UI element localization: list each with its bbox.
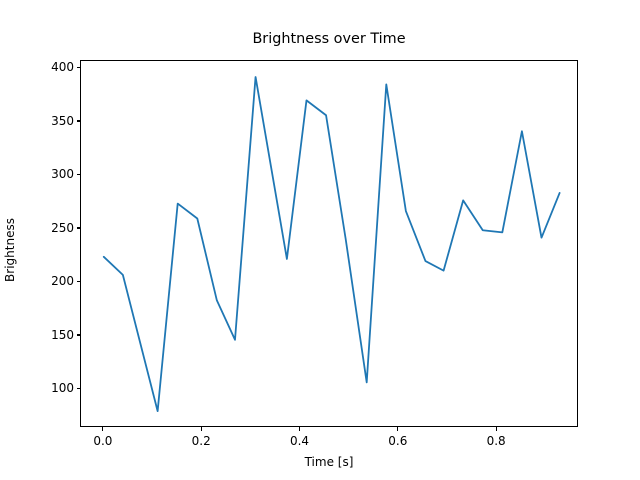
- x-axis-tick-labels: 0.00.20.40.60.8: [0, 434, 640, 450]
- x-tick-label: 0.2: [192, 434, 211, 448]
- y-tick-label: 100: [51, 381, 74, 395]
- x-tick-label: 0.6: [388, 434, 407, 448]
- data-series-brightness: [81, 61, 577, 426]
- x-tick-label: 0.0: [93, 434, 112, 448]
- x-tick-mark: [201, 427, 202, 431]
- chart-title: Brightness over Time: [80, 30, 578, 48]
- y-tick-label: 400: [51, 60, 74, 74]
- y-tick-label: 200: [51, 274, 74, 288]
- x-tick-mark: [102, 427, 103, 431]
- line-path-brightness: [104, 77, 560, 411]
- plot-area: [80, 60, 578, 427]
- y-tick-label: 150: [51, 328, 74, 342]
- y-axis-tick-labels: 100150200250300350400: [0, 0, 74, 480]
- x-tick-label: 0.4: [290, 434, 309, 448]
- x-tick-label: 0.8: [487, 434, 506, 448]
- y-tick-label: 350: [51, 114, 74, 128]
- x-tick-mark: [496, 427, 497, 431]
- matplotlib-figure: Brightness over Time Brightness Time [s]…: [0, 0, 640, 480]
- x-axis-label: Time [s]: [80, 455, 578, 469]
- x-tick-mark: [397, 427, 398, 431]
- x-tick-mark: [299, 427, 300, 431]
- y-tick-label: 300: [51, 167, 74, 181]
- y-tick-label: 250: [51, 221, 74, 235]
